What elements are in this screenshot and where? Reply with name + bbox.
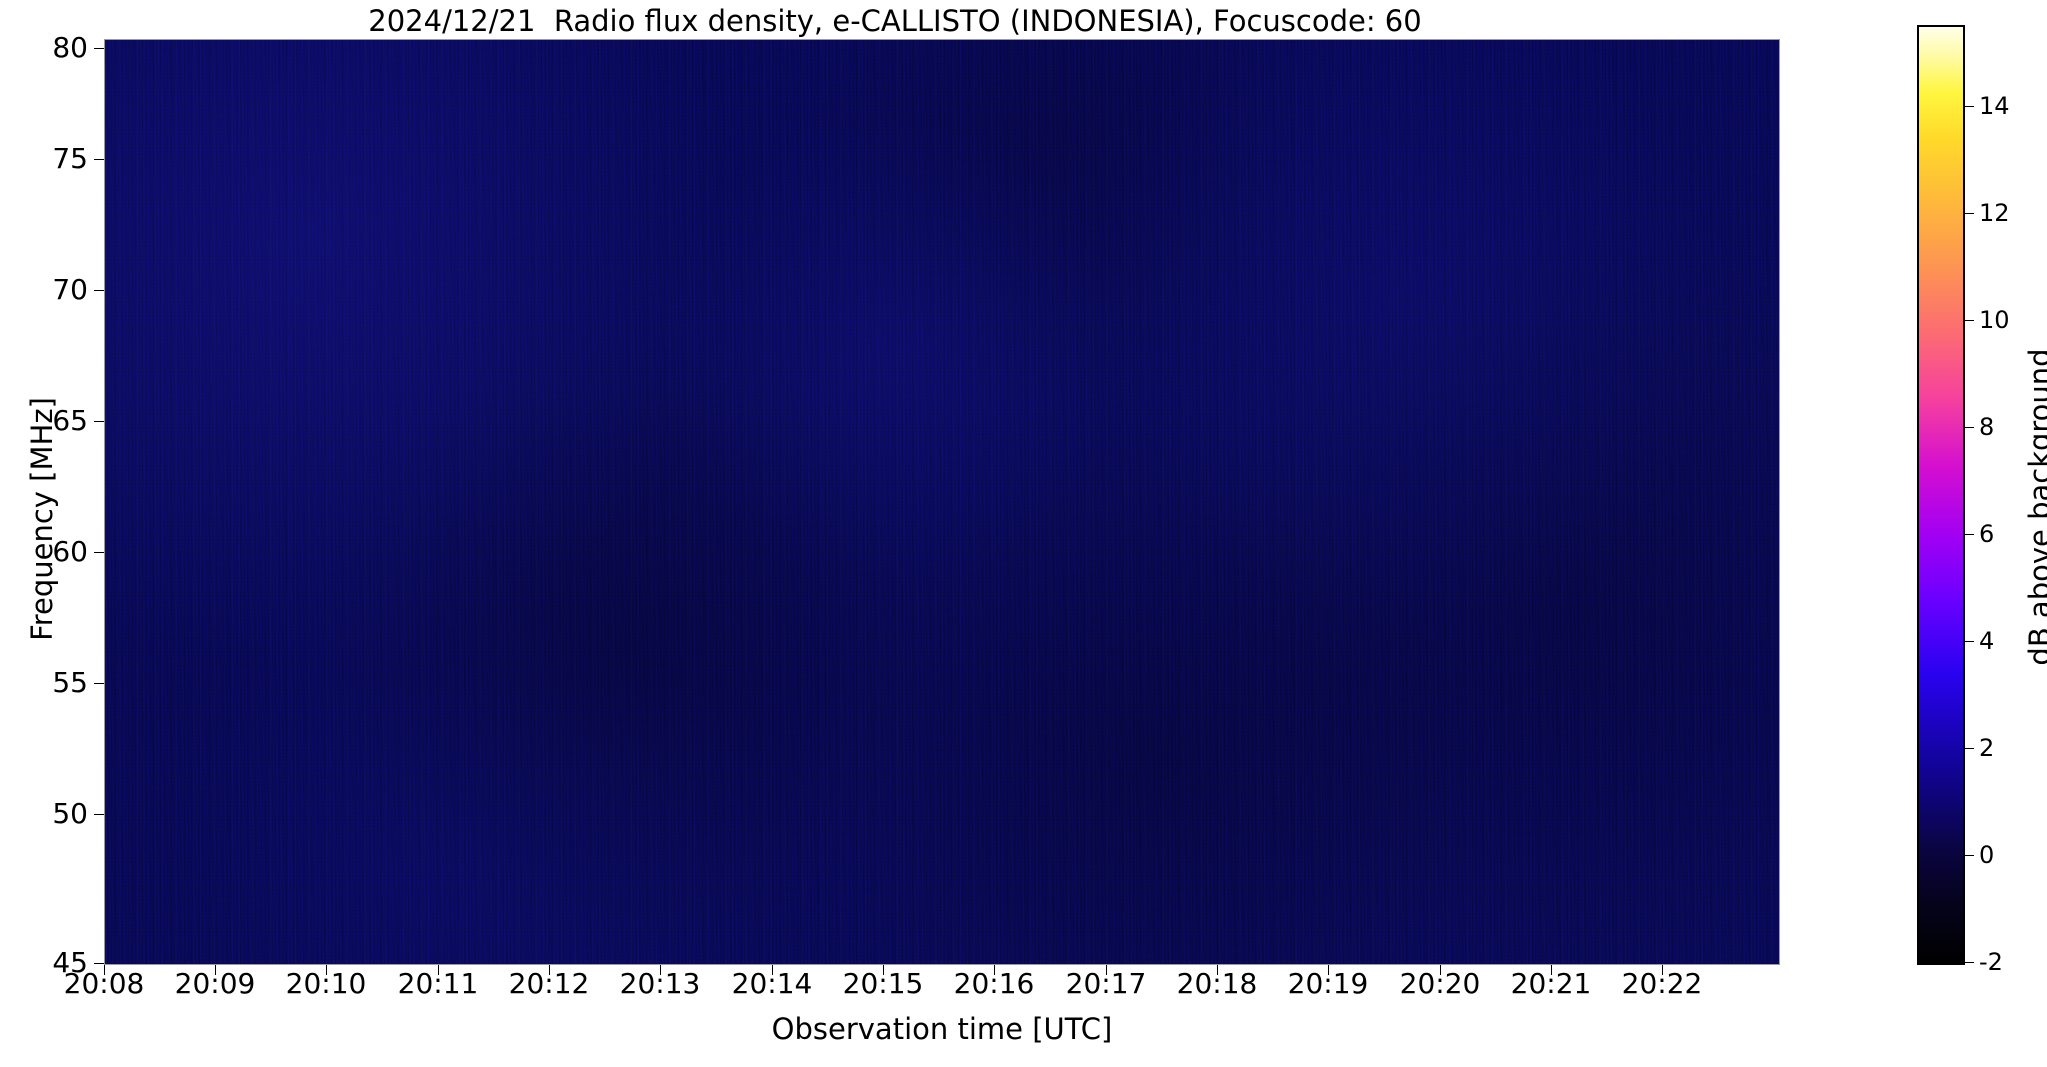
colorbar-tick-mark [1965,534,1974,535]
y-tick-mark [94,290,104,291]
x-axis-label: Observation time [UTC] [104,1012,1780,1046]
x-tick-label-2022: 20:22 [1622,970,1703,998]
y-tick-mark [94,552,104,553]
page-title: 2024/12/21 Radio flux density, e-CALLIST… [0,4,1790,38]
x-tick-label-2010: 20:10 [286,970,367,998]
x-tick-label-2014: 20:14 [732,970,813,998]
x-tick-label-2020: 20:20 [1400,970,1481,998]
colorbar-tick-label-4: 4 [1979,629,1994,653]
colorbar-tick-mark [1965,213,1974,214]
colorbar[interactable] [1917,25,1965,965]
colorbar-tick-mark [1965,106,1974,107]
colorbar-tick-label-12: 12 [1979,201,2010,225]
colorbar-label: dB above background [2023,257,2047,757]
colorbar-tick-label-6: 6 [1979,522,1994,546]
colorbar-tick-label-14: 14 [1979,94,2010,118]
colorbar-tick-mark [1965,427,1974,428]
colorbar-tick-label-8: 8 [1979,415,1994,439]
y-tick-mark [94,683,104,684]
x-tick-label-2015: 20:15 [843,970,924,998]
y-tick-label-80: 80 [52,34,88,62]
x-tick-label-2017: 20:17 [1066,970,1147,998]
spectrogram-plot-area[interactable] [104,39,1780,965]
x-tick-label-2013: 20:13 [620,970,701,998]
colorbar-tick-mark [1965,962,1974,963]
y-tick-mark [94,963,104,964]
y-tick-mark [94,48,104,49]
spectrogram-image [105,40,1779,964]
colorbar-tick-label-0: 0 [1979,843,1994,867]
x-tick-label-2009: 20:09 [175,970,256,998]
colorbar-tick-mark [1965,320,1974,321]
x-tick-label-2011: 20:11 [398,970,479,998]
y-tick-mark [94,421,104,422]
x-tick-label-2008: 20:08 [64,970,145,998]
colorbar-tick-mark [1965,748,1974,749]
colorbar-tick-mark [1965,855,1974,856]
y-tick-label-75: 75 [52,145,88,173]
colorbar-tick-label-neg2: -2 [1979,950,2003,974]
colorbar-tick-mark [1965,641,1974,642]
y-tick-mark [94,814,104,815]
y-tick-mark [94,159,104,160]
x-tick-label-2018: 20:18 [1177,970,1258,998]
x-tick-label-2016: 20:16 [954,970,1035,998]
colorbar-tick-label-2: 2 [1979,736,1994,760]
y-tick-label-60: 60 [52,538,88,566]
x-tick-label-2012: 20:12 [509,970,590,998]
x-tick-label-2021: 20:21 [1511,970,1592,998]
y-tick-label-50: 50 [52,800,88,828]
y-tick-label-65: 65 [52,407,88,435]
y-axis-label: Frequency [MHz] [25,29,59,1009]
colorbar-tick-label-10: 10 [1979,308,2010,332]
y-tick-label-55: 55 [52,669,88,697]
x-tick-label-2019: 20:19 [1288,970,1369,998]
y-tick-label-70: 70 [52,276,88,304]
